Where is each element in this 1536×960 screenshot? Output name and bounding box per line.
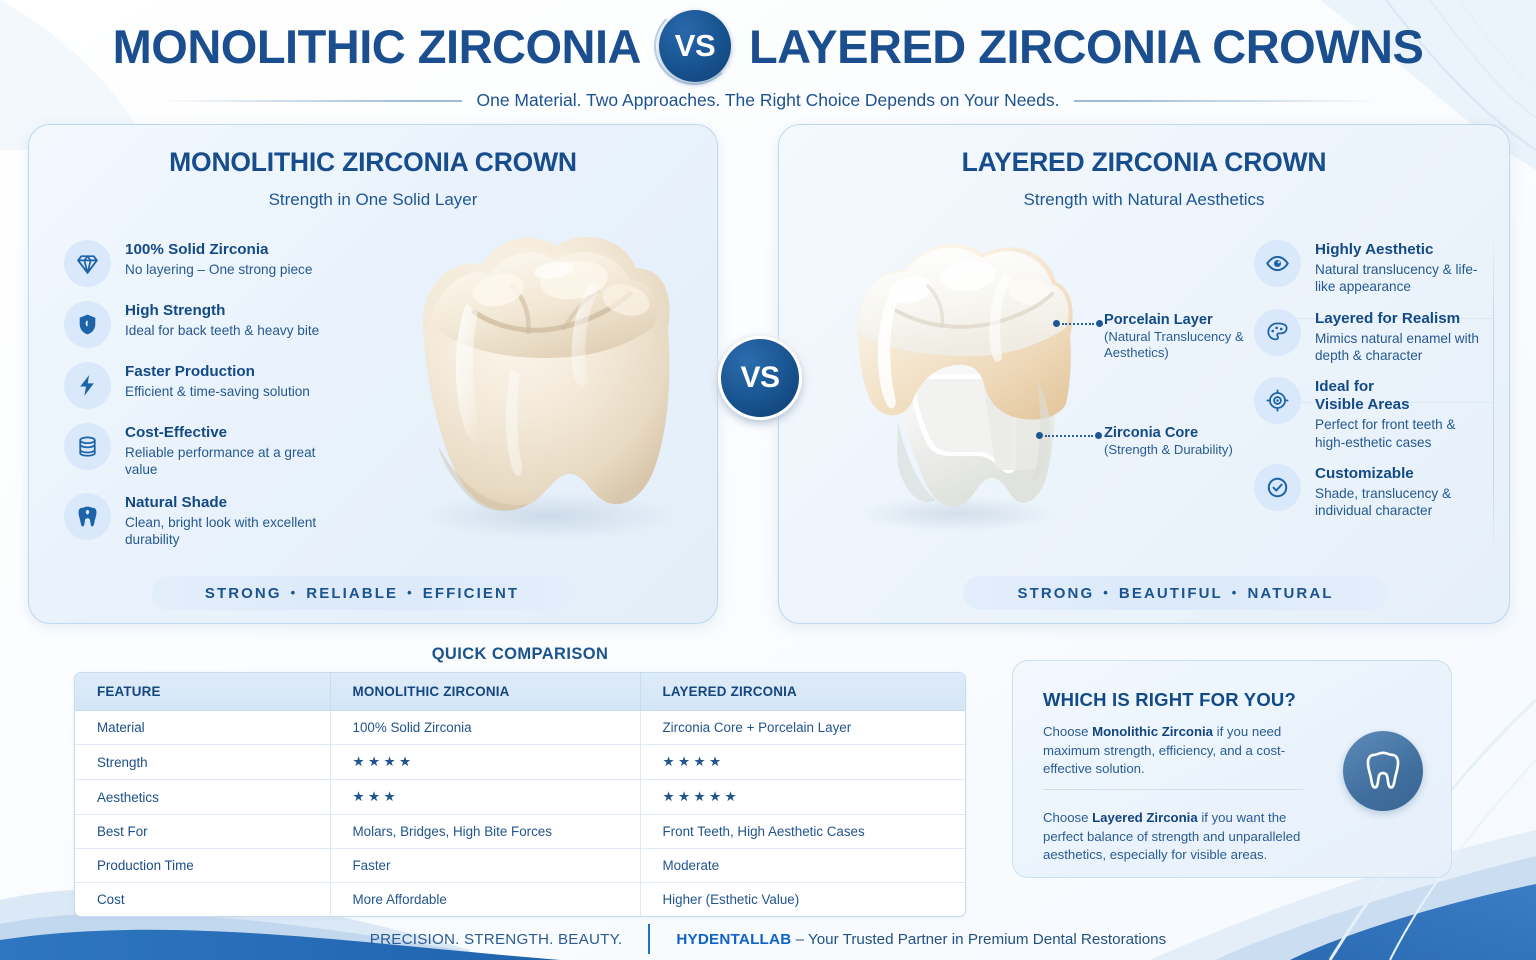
badge-dot-icon: • (291, 585, 298, 600)
which-divider (1043, 789, 1303, 790)
which-title: WHICH IS RIGHT FOR YOU? (1043, 689, 1296, 711)
feature-customizable: Customizable Shade, translucency & indiv… (1254, 464, 1486, 520)
tooth-icon (1362, 748, 1404, 794)
table-header-mono: MONOLITHIC ZIRCONIA (330, 673, 640, 711)
tooth-badge (1343, 731, 1423, 811)
table-row: Strength ★★★★ ★★★★ (75, 745, 965, 780)
cell-mono: Faster (330, 849, 640, 883)
which-para-layered: Choose Layered Zirconia if you want the … (1043, 809, 1311, 865)
title-row: MONOLITHIC ZIRCONIA VS LAYERED ZIRCONIA … (0, 8, 1536, 84)
leader-dot-icon (1096, 320, 1103, 327)
feature-desc: Shade, translucency & individual charact… (1315, 485, 1486, 520)
eye-icon (1254, 240, 1301, 287)
feature-solid-zirconia: 100% Solid Zirconia No layering – One st… (64, 240, 334, 287)
cell-feature: Cost (75, 883, 330, 917)
feature-heading: Faster Production (125, 363, 310, 381)
cell-feature: Material (75, 711, 330, 745)
leader-dash (1045, 435, 1093, 437)
cell-mono: Molars, Bridges, High Bite Forces (330, 815, 640, 849)
which-p1-bold: Monolithic Zirconia (1092, 724, 1213, 739)
feature-text: Cost-Effective Reliable performance at a… (125, 423, 334, 479)
shield-icon (64, 301, 111, 348)
feature-desc: Clean, bright look with excellent durabi… (125, 514, 335, 549)
callout-porcelain-layer: Porcelain Layer (Natural Translucency & … (1104, 312, 1249, 362)
feature-text: 100% Solid Zirconia No layering – One st… (125, 240, 312, 278)
cell-layered: Zirconia Core + Porcelain Layer (640, 711, 965, 745)
feature-desc: Natural translucency & life-like appeara… (1315, 261, 1486, 296)
feature-highly-aesthetic: Highly Aesthetic Natural translucency & … (1254, 240, 1486, 296)
layered-feature-list: Highly Aesthetic Natural translucency & … (1254, 240, 1486, 533)
layered-panel-title: LAYERED ZIRCONIA CROWN (779, 147, 1509, 178)
feature-heading: Layered for Realism (1315, 310, 1486, 328)
feature-text: Natural Shade Clean, bright look with ex… (125, 493, 335, 549)
vs-disc: VS (659, 10, 731, 82)
vs-center-label: VS (740, 361, 779, 395)
feature-desc: Perfect for front teeth & high-esthetic … (1315, 416, 1486, 451)
badge-word-3: EFFICIENT (423, 585, 519, 602)
zirconia-callout-leader (1036, 432, 1102, 439)
palette-icon (1254, 309, 1301, 356)
feature-desc: Reliable performance at a great value (125, 444, 334, 479)
table-header-layered: LAYERED ZIRCONIA (640, 673, 965, 711)
feature-text: Highly Aesthetic Natural translucency & … (1315, 240, 1486, 296)
right-feature-divider (1493, 232, 1494, 562)
leader-dash (1062, 323, 1094, 325)
badge-word-1: STRONG (205, 585, 282, 602)
leader-dot-icon (1036, 432, 1043, 439)
feature-ideal-visible-areas: Ideal for Visible Areas Perfect for fron… (1254, 377, 1486, 451)
which-p1-pre: Choose (1043, 724, 1092, 739)
feature-text: Layered for Realism Mimics natural ename… (1315, 309, 1486, 365)
page-title-left: MONOLITHIC ZIRCONIA (113, 19, 641, 74)
page-title-right: LAYERED ZIRCONIA CROWNS (749, 19, 1423, 74)
monolithic-panel-title: MONOLITHIC ZIRCONIA CROWN (29, 147, 717, 178)
which-p2-bold: Layered Zirconia (1092, 810, 1198, 825)
badge-word-1: STRONG (1017, 585, 1094, 602)
callout-heading: Porcelain Layer (1104, 312, 1249, 328)
feature-cost-effective: Cost-Effective Reliable performance at a… (64, 423, 334, 479)
cell-feature: Strength (75, 745, 330, 780)
cell-mono-rating: ★★★ (330, 780, 640, 815)
table-row: Material 100% Solid Zirconia Zirconia Co… (75, 711, 965, 745)
cell-mono: 100% Solid Zirconia (330, 711, 640, 745)
table-header-row: FEATURE MONOLITHIC ZIRCONIA LAYERED ZIRC… (75, 673, 965, 711)
feature-heading: High Strength (125, 302, 319, 320)
feature-text: Customizable Shade, translucency & indiv… (1315, 464, 1486, 520)
vs-badge-label: VS (675, 28, 715, 64)
feature-heading: 100% Solid Zirconia (125, 241, 312, 259)
footer-brand: HYDENTALLAB (676, 931, 791, 948)
monolithic-panel-head: MONOLITHIC ZIRCONIA CROWN Strength in On… (29, 125, 717, 210)
badge-word-2: BEAUTIFUL (1119, 585, 1223, 602)
cell-layered-rating: ★★★★★ (640, 780, 965, 815)
cell-feature: Production Time (75, 849, 330, 883)
layered-crown-image (832, 222, 1082, 542)
feature-heading: Cost-Effective (125, 424, 334, 442)
feature-faster-production: Faster Production Efficient & time-savin… (64, 362, 334, 409)
subtitle-rule-right (1074, 100, 1379, 102)
table-row: Cost More Affordable Higher (Esthetic Va… (75, 883, 965, 917)
feature-high-strength: High Strength Ideal for back teeth & hea… (64, 301, 334, 348)
table-row: Aesthetics ★★★ ★★★★★ (75, 780, 965, 815)
which-para-monolithic: Choose Monolithic Zirconia if you need m… (1043, 723, 1311, 779)
which-is-right-card: WHICH IS RIGHT FOR YOU? Choose Monolithi… (1012, 660, 1452, 878)
coins-icon (64, 423, 111, 470)
page-footer: PRECISION. STRENGTH. BEAUTY. HYDENTALLAB… (0, 924, 1536, 954)
feature-layered-realism: Layered for Realism Mimics natural ename… (1254, 309, 1486, 365)
footer-tagline: PRECISION. STRENGTH. BEAUTY. (370, 931, 623, 948)
cell-layered: Higher (Esthetic Value) (640, 883, 965, 917)
feature-heading: Customizable (1315, 465, 1486, 483)
cell-mono: More Affordable (330, 883, 640, 917)
callout-zirconia-core: Zirconia Core (Strength & Durability) (1104, 425, 1249, 458)
table-row: Production Time Faster Moderate (75, 849, 965, 883)
feature-heading: Natural Shade (125, 494, 335, 512)
layered-badge-strip: STRONG • BEAUTIFUL • NATURAL (963, 576, 1388, 610)
cell-layered-rating: ★★★★ (640, 745, 965, 780)
page-header: MONOLITHIC ZIRCONIA VS LAYERED ZIRCONIA … (0, 8, 1536, 111)
table-header-feature: FEATURE (75, 673, 330, 711)
cell-layered: Moderate (640, 849, 965, 883)
cell-mono-rating: ★★★★ (330, 745, 640, 780)
leader-dot-icon (1053, 320, 1060, 327)
footer-brand-tail: – Your Trusted Partner in Premium Dental… (791, 931, 1166, 948)
monolithic-crown-image (378, 216, 708, 556)
footer-brand-line: HYDENTALLAB – Your Trusted Partner in Pr… (676, 931, 1166, 948)
page-subtitle: One Material. Two Approaches. The Right … (476, 90, 1059, 111)
subtitle-rule-left (157, 100, 462, 102)
bolt-icon (64, 362, 111, 409)
feature-desc: Mimics natural enamel with depth & chara… (1315, 330, 1486, 365)
monolithic-badge-strip: STRONG • RELIABLE • EFFICIENT (152, 576, 572, 610)
feature-text: Faster Production Efficient & time-savin… (125, 362, 310, 400)
callout-heading: Zirconia Core (1104, 425, 1249, 441)
badge-word-2: RELIABLE (306, 585, 398, 602)
leader-dot-icon (1095, 432, 1102, 439)
porcelain-callout-leader (1053, 320, 1103, 327)
layered-panel-head: LAYERED ZIRCONIA CROWN Strength with Nat… (779, 125, 1509, 210)
layered-panel-subtitle: Strength with Natural Aesthetics (779, 190, 1509, 210)
feature-desc: Efficient & time-saving solution (125, 383, 310, 400)
callout-desc: (Natural Translucency & Aesthetics) (1104, 329, 1249, 362)
feature-text: Ideal for Visible Areas Perfect for fron… (1315, 377, 1486, 451)
cell-feature: Best For (75, 815, 330, 849)
tooth-icon (64, 493, 111, 540)
cell-layered: Front Teeth, High Aesthetic Cases (640, 815, 965, 849)
feature-text: High Strength Ideal for back teeth & hea… (125, 301, 319, 339)
vs-disc: VS (718, 336, 802, 420)
badge-word-3: NATURAL (1247, 585, 1333, 602)
quick-comparison-title: QUICK COMPARISON (70, 645, 970, 664)
comparison-table: FEATURE MONOLITHIC ZIRCONIA LAYERED ZIRC… (74, 672, 966, 917)
monolithic-panel-subtitle: Strength in One Solid Layer (29, 190, 717, 210)
feature-natural-shade: Natural Shade Clean, bright look with ex… (64, 493, 314, 549)
feature-heading: Ideal for Visible Areas (1315, 378, 1486, 414)
table-row: Best For Molars, Bridges, High Bite Forc… (75, 815, 965, 849)
footer-divider (648, 924, 650, 954)
feature-heading: Highly Aesthetic (1315, 241, 1486, 259)
feature-desc: Ideal for back teeth & heavy bite (125, 322, 319, 339)
badge-dot-icon: • (1103, 585, 1110, 600)
which-p2-pre: Choose (1043, 810, 1092, 825)
cell-feature: Aesthetics (75, 780, 330, 815)
diamond-icon (64, 240, 111, 287)
badge-dot-icon: • (1232, 585, 1239, 600)
callout-desc: (Strength & Durability) (1104, 442, 1249, 458)
monolithic-feature-list: 100% Solid Zirconia No layering – One st… (64, 240, 334, 562)
feature-desc: No layering – One strong piece (125, 261, 312, 278)
vs-badge-center: VS (718, 336, 802, 420)
check-circle-icon (1254, 464, 1301, 511)
subtitle-row: One Material. Two Approaches. The Right … (0, 90, 1536, 111)
badge-dot-icon: • (407, 585, 414, 600)
vs-badge-header: VS (659, 10, 731, 82)
target-icon (1254, 377, 1301, 424)
